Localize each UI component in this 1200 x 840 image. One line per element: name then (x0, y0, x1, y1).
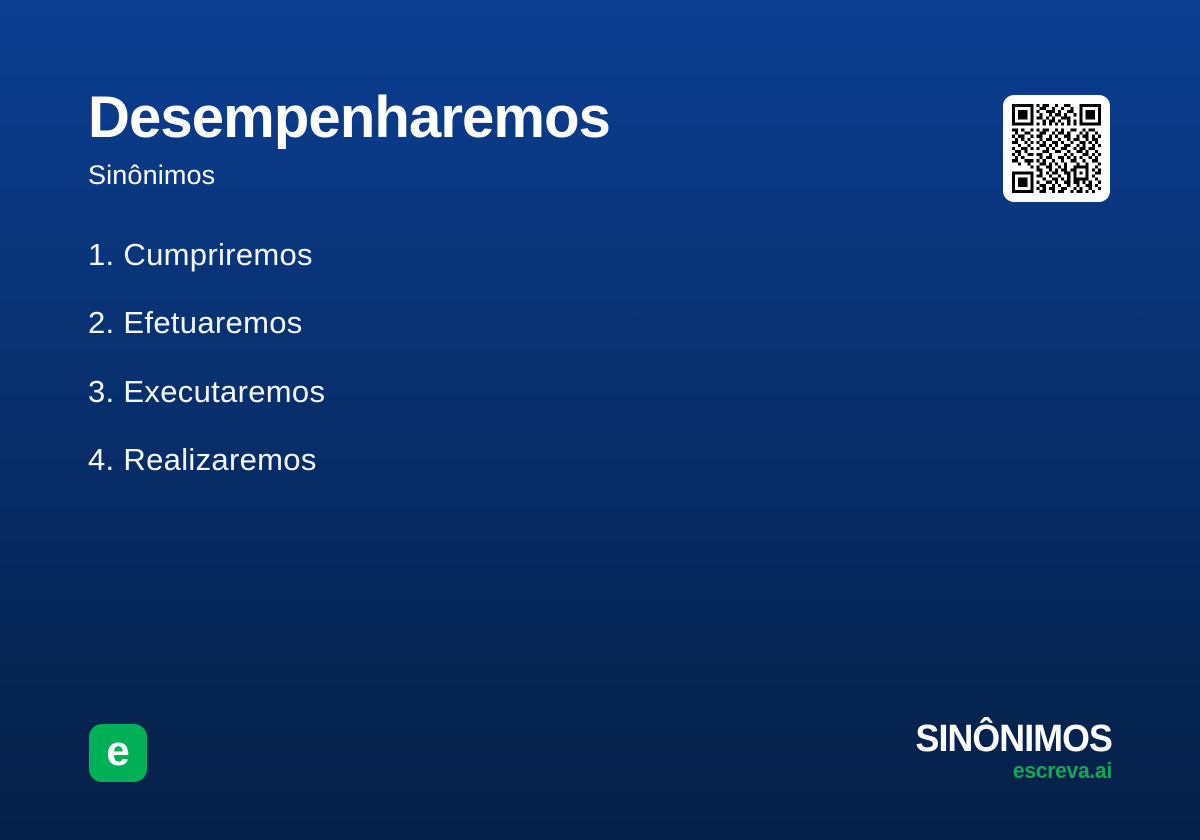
list-item-index: 2. (88, 305, 114, 340)
synonym-card: Desempenharemos Sinônimos (0, 0, 1200, 840)
brand-name: SINÔNIMOS (916, 722, 1112, 757)
app-badge-letter: e (106, 730, 129, 772)
list-item-index: 4. (88, 442, 114, 477)
list-item: 4. Realizaremos (88, 443, 888, 476)
list-item: 1. Cumpriremos (88, 238, 888, 271)
list-item: 3. Executaremos (88, 375, 888, 408)
brand-domain: escreva.ai (911, 760, 1112, 782)
category-label: Sinônimos (88, 161, 948, 191)
list-item-index: 1. (88, 237, 114, 272)
synonym-list: 1. Cumpriremos 2. Efetuaremos 3. Executa… (88, 238, 888, 477)
list-item-label: Realizaremos (123, 442, 316, 477)
list-item: 2. Efetuaremos (88, 306, 888, 339)
page-title: Desempenharemos (88, 88, 948, 149)
escreva-e-icon[interactable]: e (89, 724, 147, 782)
list-item-index: 3. (88, 374, 114, 409)
list-item-label: Efetuaremos (123, 305, 302, 340)
list-item-label: Executaremos (123, 374, 325, 409)
list-item-label: Cumpriremos (123, 237, 312, 272)
card-header: Desempenharemos Sinônimos (88, 88, 948, 191)
brand-lockup[interactable]: SINÔNIMOS escreva.ai (903, 722, 1112, 782)
qr-code-icon[interactable] (1003, 95, 1110, 202)
